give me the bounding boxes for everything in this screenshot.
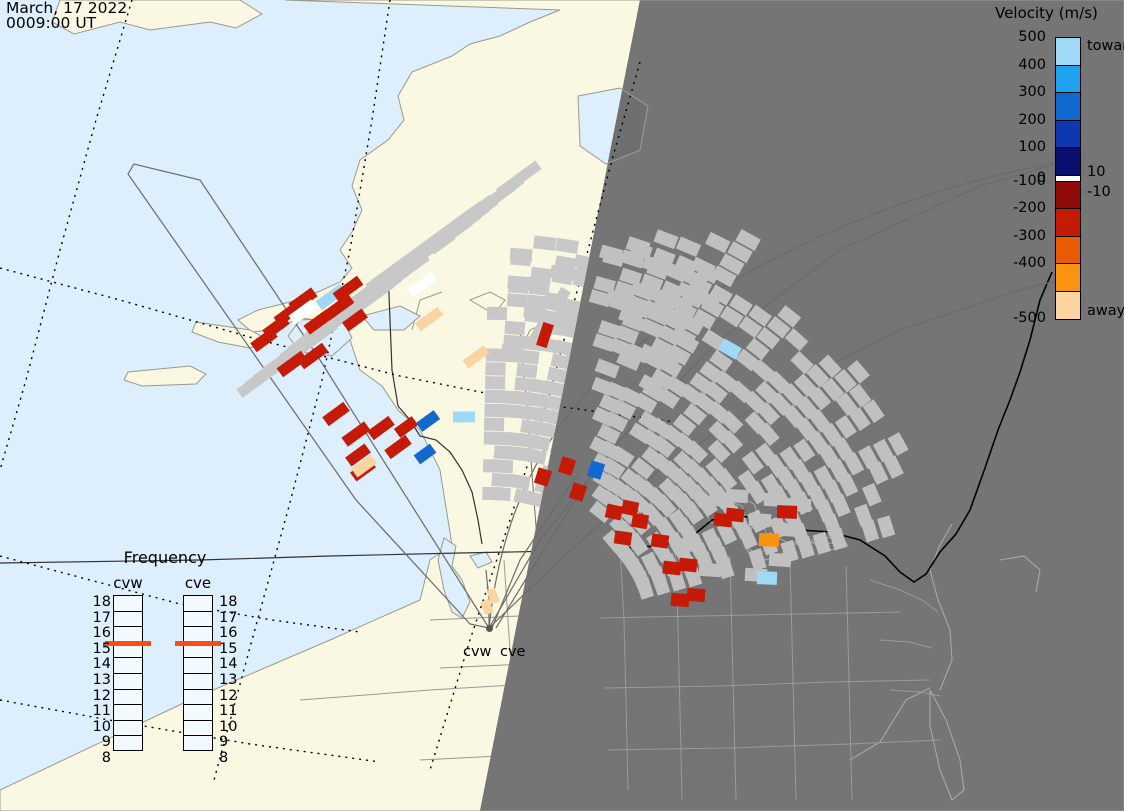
velocity-cell[interactable] [678,558,697,573]
frequency-marker [105,641,151,646]
scatter-cell [490,487,511,501]
frequency-tick-label-left: 15 [87,641,111,657]
scatter-cell [533,235,556,251]
colorbar-tick-label: -200 [1013,200,1046,216]
station-label-cve: cve [500,644,525,660]
frequency-tick-label-right: 10 [219,719,245,735]
velocity-cell[interactable] [651,533,670,548]
scatter-cell [492,459,513,473]
colorbar-segment [1056,121,1080,149]
frequency-marker [175,641,221,646]
frequency-tick-label-right: 11 [219,703,245,719]
frequency-legend-title: Frequency [95,548,235,567]
scatter-cell [516,363,537,378]
frequency-tick-label-right: 18 [219,594,245,610]
scatter-cell [485,362,505,375]
screenshot-root: cvw cve March, 17 2022 0009:00 UT Veloci… [0,0,1124,811]
colorbar-tick-label: 500 [1018,29,1046,45]
frequency-bar-row [114,736,142,752]
colorbar-tick-label: 200 [1018,112,1046,128]
frequency-tick-label-left: 10 [87,719,111,735]
frequency-bar-row [184,705,212,721]
colorbar-tick-label: 400 [1018,57,1046,73]
frequency-column-label-cvw: cvw [108,574,148,592]
colorbar-away-label: away [1087,303,1124,319]
frequency-tick-label-right: 16 [219,625,245,641]
frequency-tick-label-right: 8 [219,750,245,766]
colorbar-toward-label: toward [1087,38,1124,54]
frequency-tick-label-left: 12 [87,688,111,704]
velocity-cell[interactable] [453,412,475,423]
colorbar-segment [1056,182,1080,210]
colorbar-segment [1056,264,1080,292]
colorbar-segment [1056,66,1080,94]
frequency-tick-label-left: 14 [87,656,111,672]
frequency-bar-row [114,705,142,721]
scatter-cell [679,538,702,553]
frequency-bar-row [184,674,212,690]
scatter-cell [699,563,722,578]
scatter-cell [507,275,530,290]
colorbar-tick-label: -400 [1013,255,1046,271]
frequency-bar-row [114,721,142,737]
scatter-cell [527,276,550,292]
velocity-colorbar: Velocity (m/s) 5004003002001000-100-200-… [975,0,1124,340]
frequency-bar-row [184,658,212,674]
frequency-bar-row [114,612,142,628]
colorbar-inner-high-label: 10 [1087,164,1105,180]
scatter-cell [484,418,504,431]
scatter-cell [523,304,546,320]
frequency-bar-row [184,736,212,752]
frequency-bar-cvw [113,595,143,751]
plot-time: 0009:00 UT [6,16,96,31]
velocity-cell[interactable] [759,533,779,547]
colorbar-swatches [1055,37,1081,320]
colorbar-segment [1056,237,1080,265]
colorbar-tick-label: -100 [1013,173,1046,189]
frequency-bar-row [184,612,212,628]
frequency-tick-label-left: 13 [87,672,111,688]
frequency-bar-cve [183,595,213,751]
velocity-cell[interactable] [757,571,777,585]
colorbar-tick-label: 100 [1018,139,1046,155]
colorbar-tick-label: 300 [1018,84,1046,100]
frequency-tick-label-right: 12 [219,688,245,704]
scatter-cell [485,376,505,389]
scatter-cell [501,344,524,359]
frequency-tick-label-left: 9 [87,734,111,750]
colorbar-segment [1056,148,1080,176]
station-label-cvw: cvw [463,644,491,660]
colorbar-segment [1056,292,1080,320]
frequency-tick-label-left: 8 [87,750,111,766]
scatter-cell [510,248,533,263]
scatter-cell [764,493,787,508]
velocity-cell[interactable] [671,593,690,607]
frequency-bar-row [184,596,212,612]
velocity-cell[interactable] [687,588,706,602]
frequency-legend: Frequency cvw cve 18171615141312111098 1… [95,548,245,788]
frequency-tick-label-right: 13 [219,672,245,688]
frequency-tick-label-right: 15 [219,641,245,657]
scatter-cell [769,553,792,568]
scatter-cell [749,513,772,528]
scatter-cell [726,489,749,504]
frequency-tick-label-right: 9 [219,734,245,750]
colorbar-segment [1056,38,1080,66]
scatter-cell [487,307,507,320]
frequency-bar-row [114,658,142,674]
velocity-cell[interactable] [777,505,797,519]
scatter-cell [779,523,802,538]
velocity-cell[interactable] [614,530,633,545]
colorbar-tick-label: -300 [1013,228,1046,244]
colorbar-segment [1056,93,1080,121]
frequency-bar-row [184,721,212,737]
velocity-cell[interactable] [631,513,649,530]
frequency-bar-row [114,674,142,690]
scatter-cell [507,293,528,307]
radar-site-marker [486,625,493,632]
frequency-bar-row [114,596,142,612]
frequency-tick-label-left: 11 [87,703,111,719]
frequency-tick-label-left: 17 [87,610,111,626]
frequency-tick-label-right: 14 [219,656,245,672]
frequency-tick-label-left: 16 [87,625,111,641]
scatter-cell [504,321,525,335]
frequency-bar-row [114,690,142,706]
colorbar-segment [1056,209,1080,237]
colorbar-tick-label: -500 [1013,310,1046,326]
frequency-tick-label-right: 17 [219,610,245,626]
frequency-column-label-cve: cve [178,574,218,592]
velocity-cell[interactable] [725,508,744,523]
colorbar-title: Velocity (m/s) [975,4,1118,22]
colorbar-inner-low-label: -10 [1087,184,1111,200]
frequency-tick-label-left: 18 [87,594,111,610]
frequency-bar-row [184,690,212,706]
